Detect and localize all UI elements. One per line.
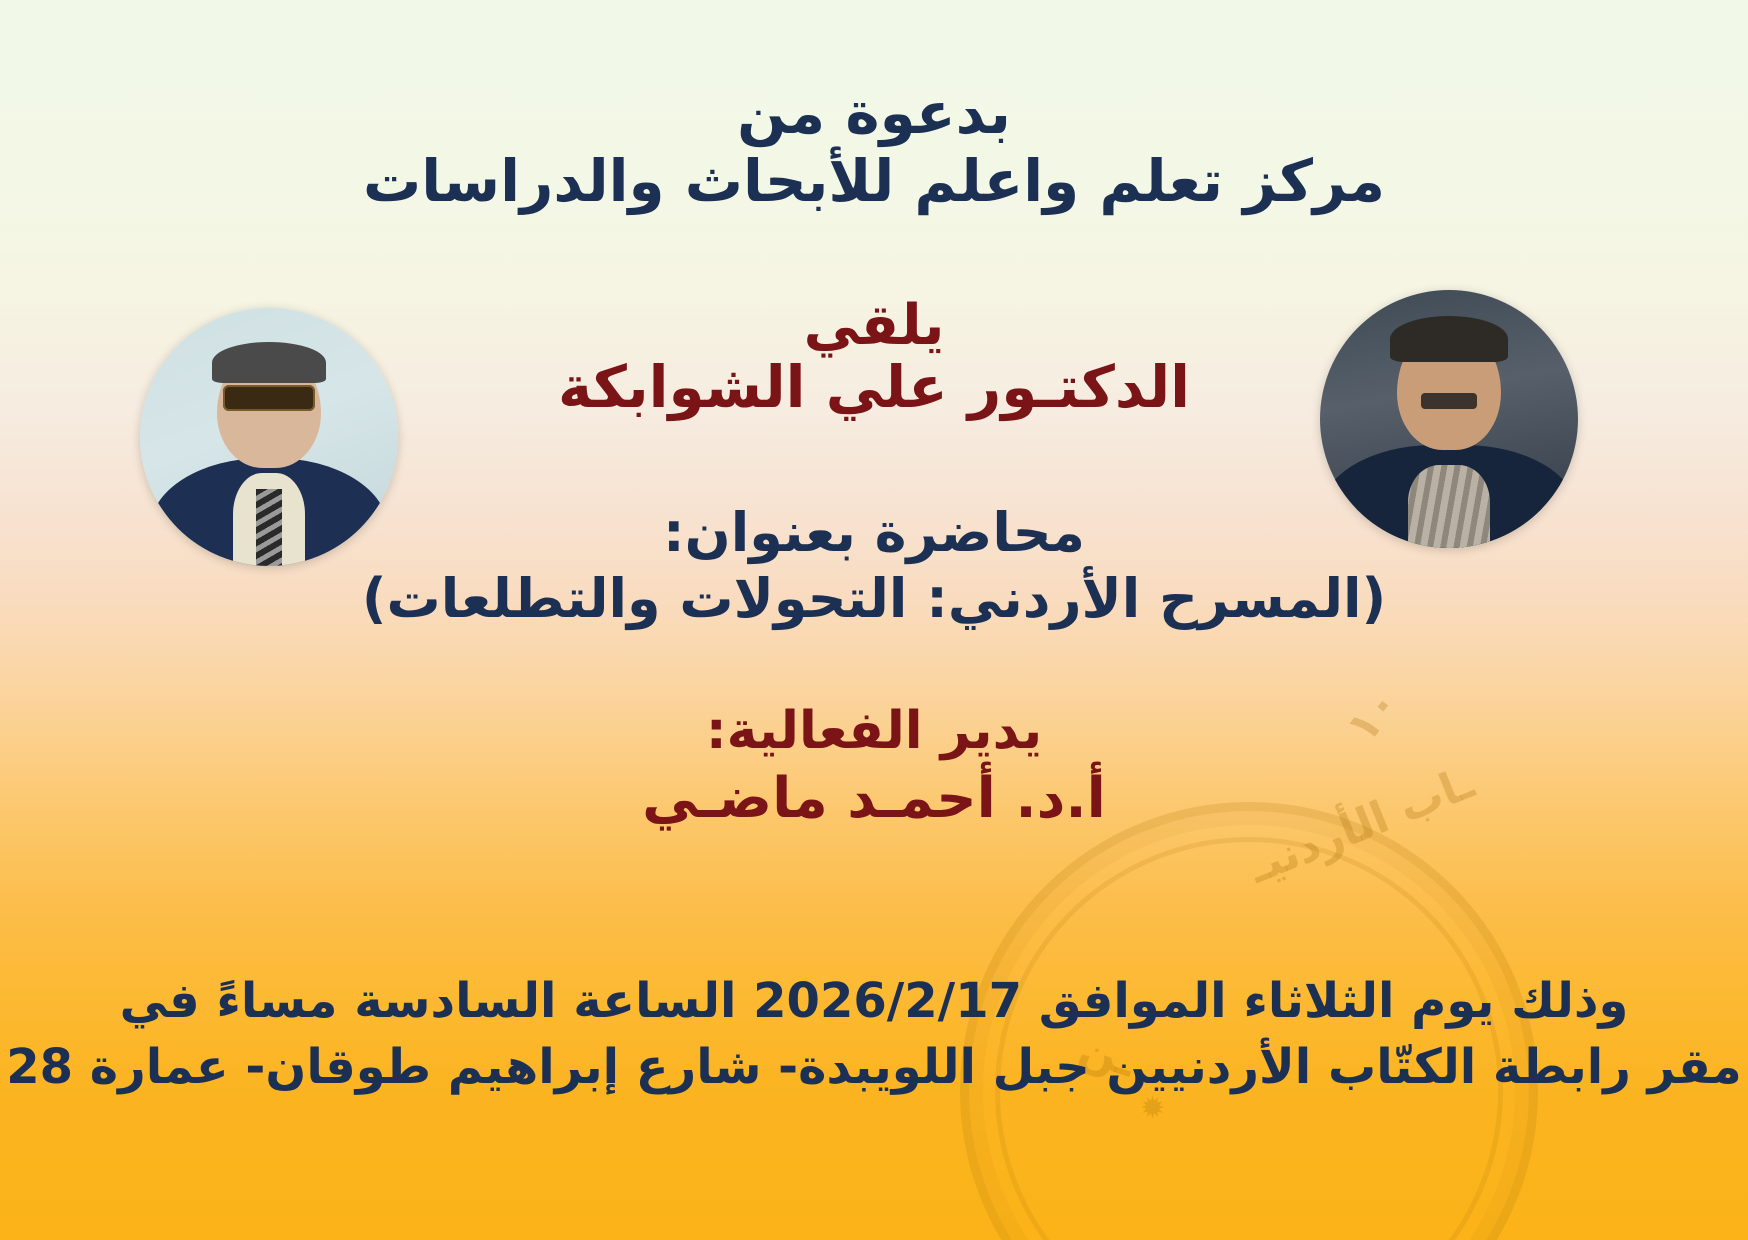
event-datetime: وذلك يوم الثلاثاء الموافق 2026/2/17 السا… bbox=[0, 972, 1748, 1031]
moderator-label: يدير الفعالية: bbox=[0, 700, 1748, 763]
organization-name: مركز تعلم واعلم للأبحاث والدراسات bbox=[0, 146, 1748, 217]
speaker-name: الدكتـور علي الشوابكة bbox=[0, 352, 1748, 423]
lecture-title: (المسرح الأردني: التحولات والتطلعات) bbox=[0, 566, 1748, 632]
event-poster: ـاب الأردنيـ ١٠ ـن ✹ بدعوة من مركز تعلم … bbox=[0, 0, 1748, 1240]
delivers-label: يلقي bbox=[0, 292, 1748, 360]
moderator-name: أ.د. أحمـد ماضـي bbox=[0, 765, 1748, 833]
invitation-from-label: بدعوة من bbox=[0, 78, 1748, 149]
event-venue: مقر رابطة الكتّاب الأردنيين جبل اللويبدة… bbox=[0, 1038, 1748, 1097]
lecture-label: محاضرة بعنوان: bbox=[0, 500, 1748, 566]
